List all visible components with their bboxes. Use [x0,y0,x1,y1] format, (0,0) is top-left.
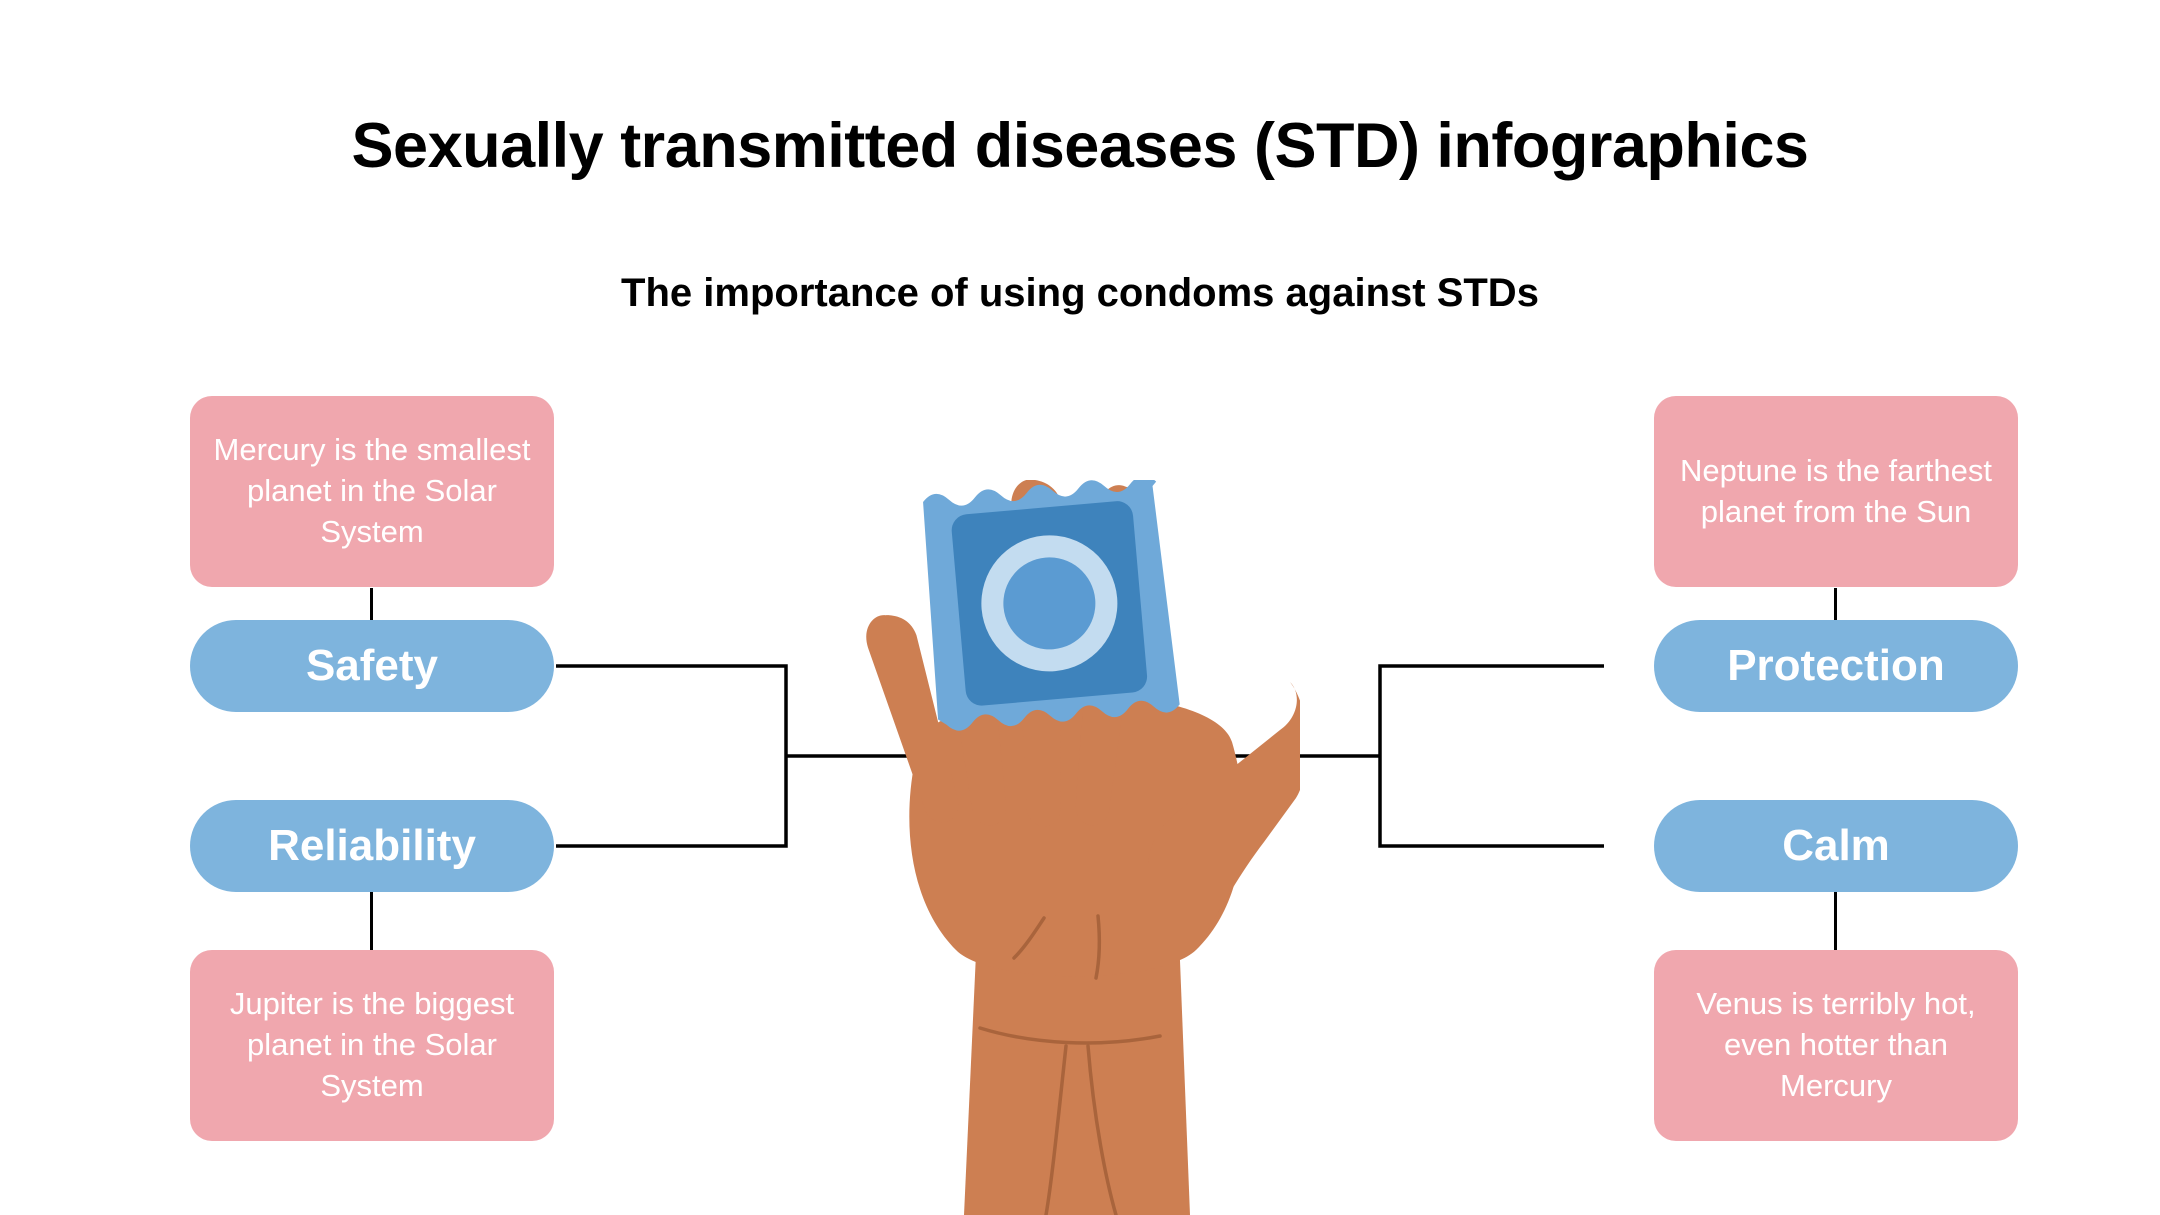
connector-tick-right-bottom [1834,892,1837,950]
left-bottom-fact-card: Jupiter is the biggest planet in the Sol… [190,950,554,1141]
left-top-fact-card: Mercury is the smallest planet in the So… [190,396,554,587]
left-top-pill-label: Safety [306,644,438,688]
condom-packet-icon [918,480,1180,732]
connector-tick-left-top [370,588,373,621]
connector-tick-left-bottom [370,892,373,950]
right-top-pill-protection[interactable]: Protection [1654,620,2018,712]
connector-tick-right-top [1834,588,1837,621]
right-bottom-fact-text: Venus is terribly hot, even hotter than … [1674,984,1998,1107]
left-top-pill-safety[interactable]: Safety [190,620,554,712]
hand-illustration [860,480,1300,1215]
right-top-fact-text: Neptune is the farthest planet from the … [1674,451,1998,533]
left-bottom-pill-reliability[interactable]: Reliability [190,800,554,892]
left-bottom-fact-text: Jupiter is the biggest planet in the Sol… [210,984,534,1107]
left-bottom-pill-label: Reliability [268,824,476,868]
right-bottom-pill-calm[interactable]: Calm [1654,800,2018,892]
left-top-fact-text: Mercury is the smallest planet in the So… [210,430,534,553]
right-bottom-fact-card: Venus is terribly hot, even hotter than … [1654,950,2018,1141]
right-bottom-pill-label: Calm [1782,824,1890,868]
right-top-fact-card: Neptune is the farthest planet from the … [1654,396,2018,587]
right-top-pill-label: Protection [1727,644,1945,688]
infographic-canvas: Sexually transmitted diseases (STD) info… [0,0,2160,1215]
